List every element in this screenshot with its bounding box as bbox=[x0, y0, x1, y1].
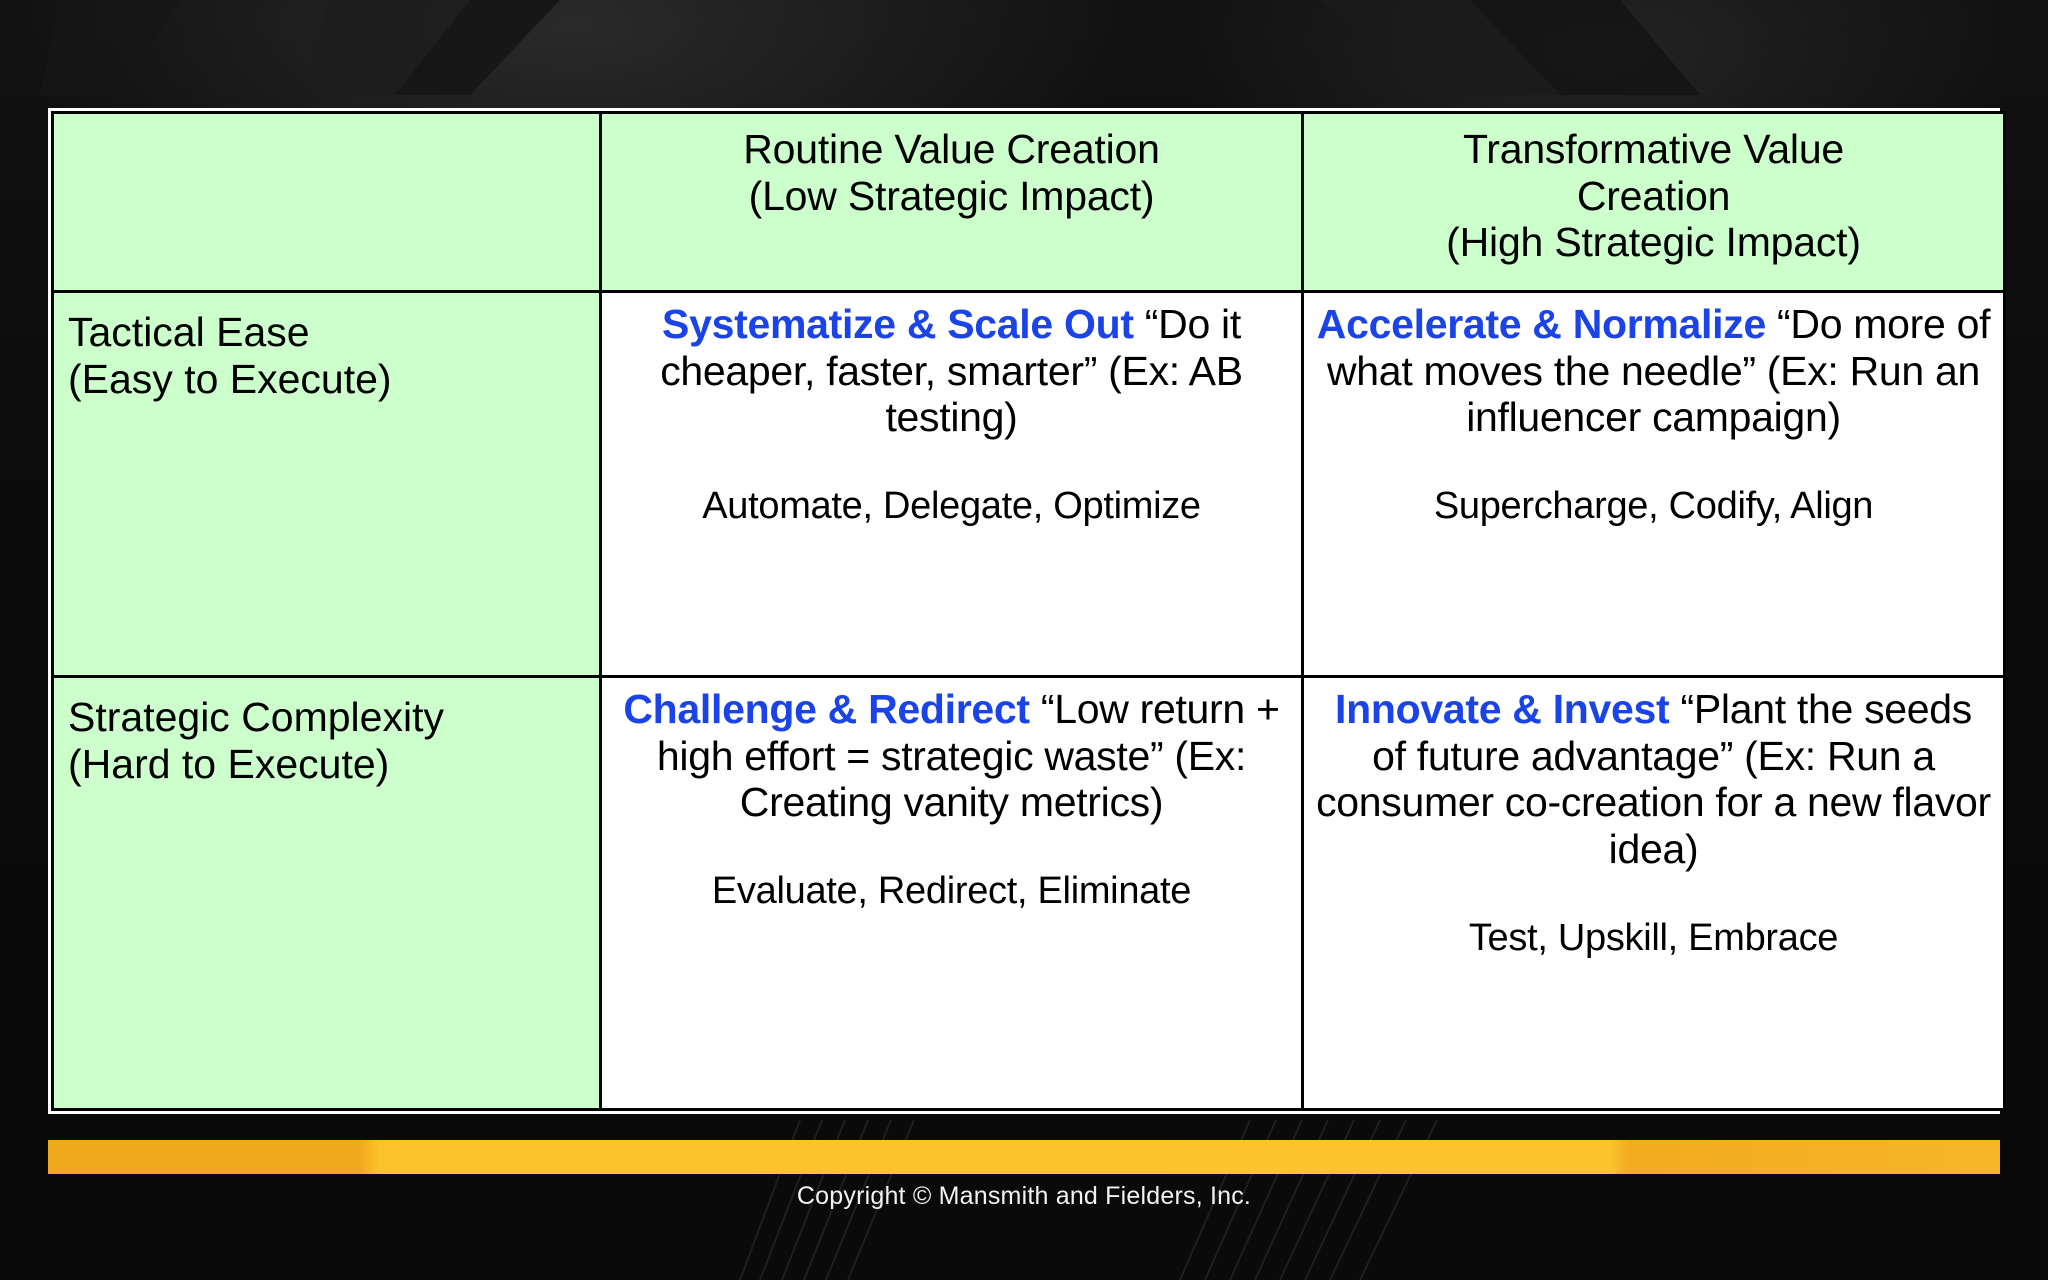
cell-keywords: Automate, Delegate, Optimize bbox=[614, 485, 1289, 528]
matrix-corner-cell bbox=[53, 113, 601, 292]
table-header-row: Routine Value Creation (Low Strategic Im… bbox=[53, 113, 2005, 292]
footer-copyright: Copyright © Mansmith and Fielders, Inc. bbox=[0, 1182, 2048, 1211]
table-row: Strategic Complexity (Hard to Execute) C… bbox=[53, 677, 2005, 1110]
cell-keywords: Supercharge, Codify, Align bbox=[1316, 485, 1991, 528]
matrix-cell-accelerate-and-normalize: Accelerate & Normalize “Do more of what … bbox=[1303, 292, 2005, 677]
column-header-routine-value-creation: Routine Value Creation (Low Strategic Im… bbox=[601, 113, 1303, 292]
cell-lead-label: Challenge & Redirect bbox=[623, 686, 1029, 732]
column-header-line-3: (High Strategic Impact) bbox=[1446, 219, 1861, 266]
background-facets-decoration bbox=[0, 0, 2048, 95]
column-header-line-1: Routine Value Creation bbox=[743, 126, 1160, 173]
cell-body-text: Challenge & Redirect “Low return + high … bbox=[614, 686, 1289, 826]
table-row: Tactical Ease (Easy to Execute) Systemat… bbox=[53, 292, 2005, 677]
row-label-line-1: Tactical Ease bbox=[68, 299, 585, 356]
column-header-line-1: Transformative Value bbox=[1463, 126, 1844, 173]
column-header-transformative-value-creation: Transformative Value Creation (High Stra… bbox=[1303, 113, 2005, 292]
row-label-line-2: (Hard to Execute) bbox=[68, 741, 585, 788]
cell-keywords: Test, Upskill, Embrace bbox=[1316, 917, 1991, 960]
row-label-strategic-complexity: Strategic Complexity (Hard to Execute) bbox=[53, 677, 601, 1110]
column-header-line-2: Creation bbox=[1577, 173, 1730, 220]
column-header-line-2: (Low Strategic Impact) bbox=[749, 173, 1155, 220]
matrix-table: Routine Value Creation (Low Strategic Im… bbox=[51, 111, 2006, 1111]
cell-lead-label: Accelerate & Normalize bbox=[1317, 301, 1766, 347]
matrix-cell-innovate-and-invest: Innovate & Invest “Plant the seeds of fu… bbox=[1303, 677, 2005, 1110]
row-label-line-2: (Easy to Execute) bbox=[68, 356, 585, 403]
cell-lead-label: Innovate & Invest bbox=[1335, 686, 1669, 732]
cell-body-text: Accelerate & Normalize “Do more of what … bbox=[1316, 301, 1991, 441]
slide-accent-bar bbox=[48, 1140, 2000, 1174]
cell-body-text: Innovate & Invest “Plant the seeds of fu… bbox=[1316, 686, 1991, 873]
matrix-cell-challenge-and-redirect: Challenge & Redirect “Low return + high … bbox=[601, 677, 1303, 1110]
matrix-cell-systematize-and-scale-out: Systematize & Scale Out “Do it cheaper, … bbox=[601, 292, 1303, 677]
value-creation-matrix: Routine Value Creation (Low Strategic Im… bbox=[48, 108, 2000, 1114]
cell-lead-label: Systematize & Scale Out bbox=[662, 301, 1134, 347]
row-label-line-1: Strategic Complexity bbox=[68, 684, 585, 741]
cell-body-text: Systematize & Scale Out “Do it cheaper, … bbox=[614, 301, 1289, 441]
cell-keywords: Evaluate, Redirect, Eliminate bbox=[614, 870, 1289, 913]
row-label-tactical-ease: Tactical Ease (Easy to Execute) bbox=[53, 292, 601, 677]
slide-canvas: Routine Value Creation (Low Strategic Im… bbox=[0, 0, 2048, 1280]
